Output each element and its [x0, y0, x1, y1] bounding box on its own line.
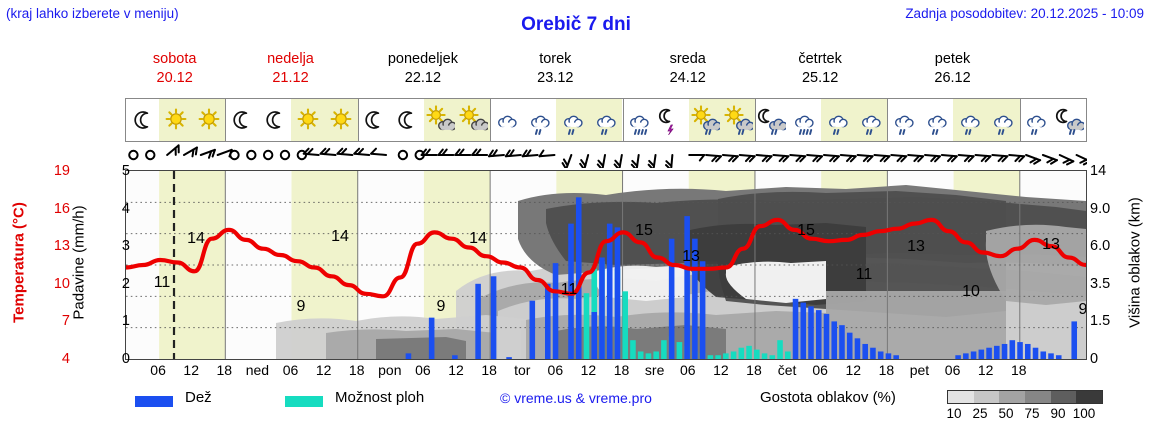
temp-tick-19: 19 — [26, 163, 70, 179]
cloud-height-axis-title: Višina oblakov (km) — [1122, 170, 1142, 360]
svg-text:11: 11 — [154, 274, 171, 291]
day-header-2: nedelja21.12 — [224, 50, 356, 96]
day-header-1: sobota20.12 — [125, 50, 224, 96]
weather-icon-moon-cloud-rain — [1053, 99, 1086, 141]
meteogram-plot: 111491491411151315111310139 — [125, 170, 1087, 360]
weather-icon-sun — [192, 99, 225, 141]
x-tick-18-14: 18 — [614, 362, 630, 378]
cloud-tick-9.0: 9.0 — [1090, 201, 1122, 217]
day-name: četrtek — [798, 51, 842, 67]
cloud-density-tick-75: 75 — [1024, 406, 1039, 421]
x-tick-06-4: 06 — [283, 362, 299, 378]
cloud-density-step-50 — [999, 391, 1025, 403]
x-tick-12-9: 12 — [448, 362, 464, 378]
weather-icon-cloud-rain — [821, 99, 854, 141]
day-date: 20.12 — [125, 69, 224, 88]
cloud-density-step-10 — [948, 391, 974, 403]
legend-swatch-rain — [135, 396, 173, 407]
weather-icon-moon — [126, 99, 159, 141]
weather-icon-sun-cloud — [457, 99, 490, 141]
svg-text:15: 15 — [797, 222, 815, 239]
day-name: ponedeljek — [388, 51, 458, 67]
day-name: nedelja — [267, 51, 314, 67]
weather-icon-moon — [391, 99, 424, 141]
weather-icon-cloud-rain — [920, 99, 953, 141]
last-updated: Zadnja posodobitev: 20.12.2025 - 10:09 — [905, 6, 1144, 21]
x-tick-06-12: 06 — [548, 362, 564, 378]
day-separator — [755, 99, 756, 141]
weather-icon-moon-thunder — [656, 99, 689, 141]
day-date: 26.12 — [886, 69, 1018, 88]
svg-text:14: 14 — [469, 230, 487, 247]
day-date: 22.12 — [357, 69, 489, 88]
weather-icon-sun-cloud-rain — [722, 99, 755, 141]
day-header-4: torek23.12 — [489, 50, 621, 96]
x-tick-18-22: 18 — [879, 362, 895, 378]
x-tick-18-6: 18 — [349, 362, 365, 378]
x-tick-sre-15: sre — [645, 362, 664, 378]
day-separator — [1020, 99, 1021, 141]
day-separator — [225, 99, 226, 141]
day-name: petek — [935, 51, 970, 67]
weather-icon-sun — [291, 99, 324, 141]
x-tick-06-20: 06 — [812, 362, 828, 378]
weather-icon-cloud-rain — [887, 99, 920, 141]
x-tick-12-25: 12 — [978, 362, 994, 378]
copyright-notice: © vreme.us & vreme.pro — [500, 390, 652, 406]
x-tick-ned-3: ned — [246, 362, 269, 378]
weather-icon-cloud-rain-heavy — [622, 99, 655, 141]
weather-icon-cloud-rain — [589, 99, 622, 141]
prec-tick-5: 5 — [86, 163, 130, 179]
weather-icon-sun — [325, 99, 358, 141]
temperature-axis-ticks: 1916131074 — [26, 170, 70, 360]
cloud-tick-1.5: 1.5 — [1090, 313, 1122, 329]
day-name: torek — [539, 51, 571, 67]
weather-icon-sun — [159, 99, 192, 141]
svg-text:13: 13 — [907, 238, 925, 255]
svg-text:13: 13 — [1042, 236, 1060, 253]
prec-tick-3: 3 — [86, 238, 130, 254]
x-tick-06-8: 06 — [415, 362, 431, 378]
temperature-axis-title: Temperatura (°C) — [6, 170, 26, 360]
legend-label-rain: Dež — [185, 389, 212, 406]
weather-icon-row — [125, 98, 1087, 142]
x-tick-06-24: 06 — [945, 362, 961, 378]
cloud-tick-6.0: 6.0 — [1090, 238, 1122, 254]
cloud-density-step-100 — [1076, 391, 1102, 403]
cloud-density-gradient-bar — [947, 390, 1103, 404]
cloud-height-axis-ticks: 149.06.03.51.50 — [1090, 170, 1122, 360]
day-separator — [490, 99, 491, 141]
weather-icon-cloud-rain — [854, 99, 887, 141]
legend-label-showers: Možnost ploh — [335, 389, 424, 406]
cloud-density-step-75 — [1025, 391, 1051, 403]
svg-text:9: 9 — [437, 298, 446, 315]
x-tick-18-2: 18 — [217, 362, 233, 378]
x-tick-tor-11: tor — [514, 362, 530, 378]
day-name: sobota — [153, 51, 197, 67]
x-tick-12-13: 12 — [581, 362, 597, 378]
weather-icon-moon-cloud-rain — [755, 99, 788, 141]
weather-icon-moon — [258, 99, 291, 141]
svg-text:14: 14 — [187, 230, 205, 247]
weather-icon-cloud-rain — [556, 99, 589, 141]
prec-tick-0: 0 — [86, 351, 130, 367]
svg-text:14: 14 — [331, 228, 349, 245]
temp-tick-16: 16 — [26, 201, 70, 217]
x-tick-pon-7: pon — [378, 362, 401, 378]
weather-icon-cloud-rain — [953, 99, 986, 141]
cloud-density-tick-50: 50 — [998, 406, 1013, 421]
cloud-density-tick-100: 100 — [1073, 406, 1096, 421]
cloud-density-legend-title: Gostota oblakov (%) — [760, 389, 896, 406]
svg-text:9: 9 — [297, 298, 306, 315]
day-date: 21.12 — [224, 69, 356, 88]
svg-text:9: 9 — [1079, 301, 1086, 318]
svg-text:10: 10 — [962, 283, 980, 300]
weather-icon-moon — [358, 99, 391, 141]
day-separator — [358, 99, 359, 141]
x-tick-12-17: 12 — [713, 362, 729, 378]
x-tick-18-18: 18 — [746, 362, 762, 378]
temp-tick-13: 13 — [26, 238, 70, 254]
day-name: sreda — [670, 51, 706, 67]
prec-tick-4: 4 — [86, 201, 130, 217]
day-date: 24.12 — [622, 69, 754, 88]
x-tick-pet-23: pet — [910, 362, 929, 378]
day-separator — [623, 99, 624, 141]
weather-icon-sun-cloud-rain — [689, 99, 722, 141]
svg-text:13: 13 — [682, 248, 700, 265]
cloud-density-tick-90: 90 — [1050, 406, 1065, 421]
day-header-band: sobota20.12nedelja21.12ponedeljek22.12to… — [125, 50, 1087, 96]
cloud-density-step-25 — [974, 391, 1000, 403]
weather-icon-moon — [225, 99, 258, 141]
x-tick-12-21: 12 — [845, 362, 861, 378]
temp-tick-7: 7 — [26, 313, 70, 329]
svg-text:11: 11 — [856, 266, 873, 283]
x-tick-18-26: 18 — [1011, 362, 1027, 378]
weather-icon-cloud-rain — [986, 99, 1019, 141]
day-date: 25.12 — [754, 69, 886, 88]
prec-tick-2: 2 — [86, 276, 130, 292]
day-date: 23.12 — [489, 69, 621, 88]
x-tick-06-0: 06 — [150, 362, 166, 378]
weather-icon-sun-cloud — [424, 99, 457, 141]
day-header-3: ponedeljek22.12 — [357, 50, 489, 96]
day-header-7: petek26.12 — [886, 50, 1018, 96]
cloud-density-step-90 — [1051, 391, 1077, 403]
cloud-tick-14: 14 — [1090, 163, 1122, 179]
day-header-5: sreda24.12 — [622, 50, 754, 96]
cloud-tick-3.5: 3.5 — [1090, 276, 1122, 292]
cloud-density-tick-10: 10 — [946, 406, 961, 421]
cloud-tick-0: 0 — [1090, 351, 1122, 367]
meteogram-page: (kraj lahko izberete v meniju) Orebič 7 … — [0, 0, 1152, 443]
day-separator — [887, 99, 888, 141]
svg-text:15: 15 — [635, 222, 653, 239]
temp-tick-10: 10 — [26, 276, 70, 292]
svg-text:11: 11 — [561, 281, 578, 298]
prec-tick-1: 1 — [86, 313, 130, 329]
weather-icon-cloud-rain-heavy — [788, 99, 821, 141]
legend-swatch-showers — [285, 396, 323, 407]
cloud-density-tick-labels: 1025507590100 — [940, 406, 1115, 424]
day-header-6: četrtek25.12 — [754, 50, 886, 96]
x-tick-12-5: 12 — [316, 362, 332, 378]
temp-tick-4: 4 — [26, 351, 70, 367]
x-tick-18-10: 18 — [481, 362, 497, 378]
weather-icon-cloud — [490, 99, 523, 141]
weather-icon-cloud-rain — [1020, 99, 1053, 141]
x-tick-čet-19: čet — [778, 362, 797, 378]
cloud-density-tick-25: 25 — [972, 406, 987, 421]
wind-barb-row — [125, 142, 1087, 168]
precipitation-axis-ticks: 543210 — [86, 170, 130, 360]
weather-icon-cloud-rain — [523, 99, 556, 141]
x-tick-06-16: 06 — [680, 362, 696, 378]
x-axis-tick-labels: 061218ned061218pon061218tor061218sre0612… — [125, 362, 1087, 382]
x-tick-12-1: 12 — [183, 362, 199, 378]
day-header-partial — [1019, 50, 1085, 96]
